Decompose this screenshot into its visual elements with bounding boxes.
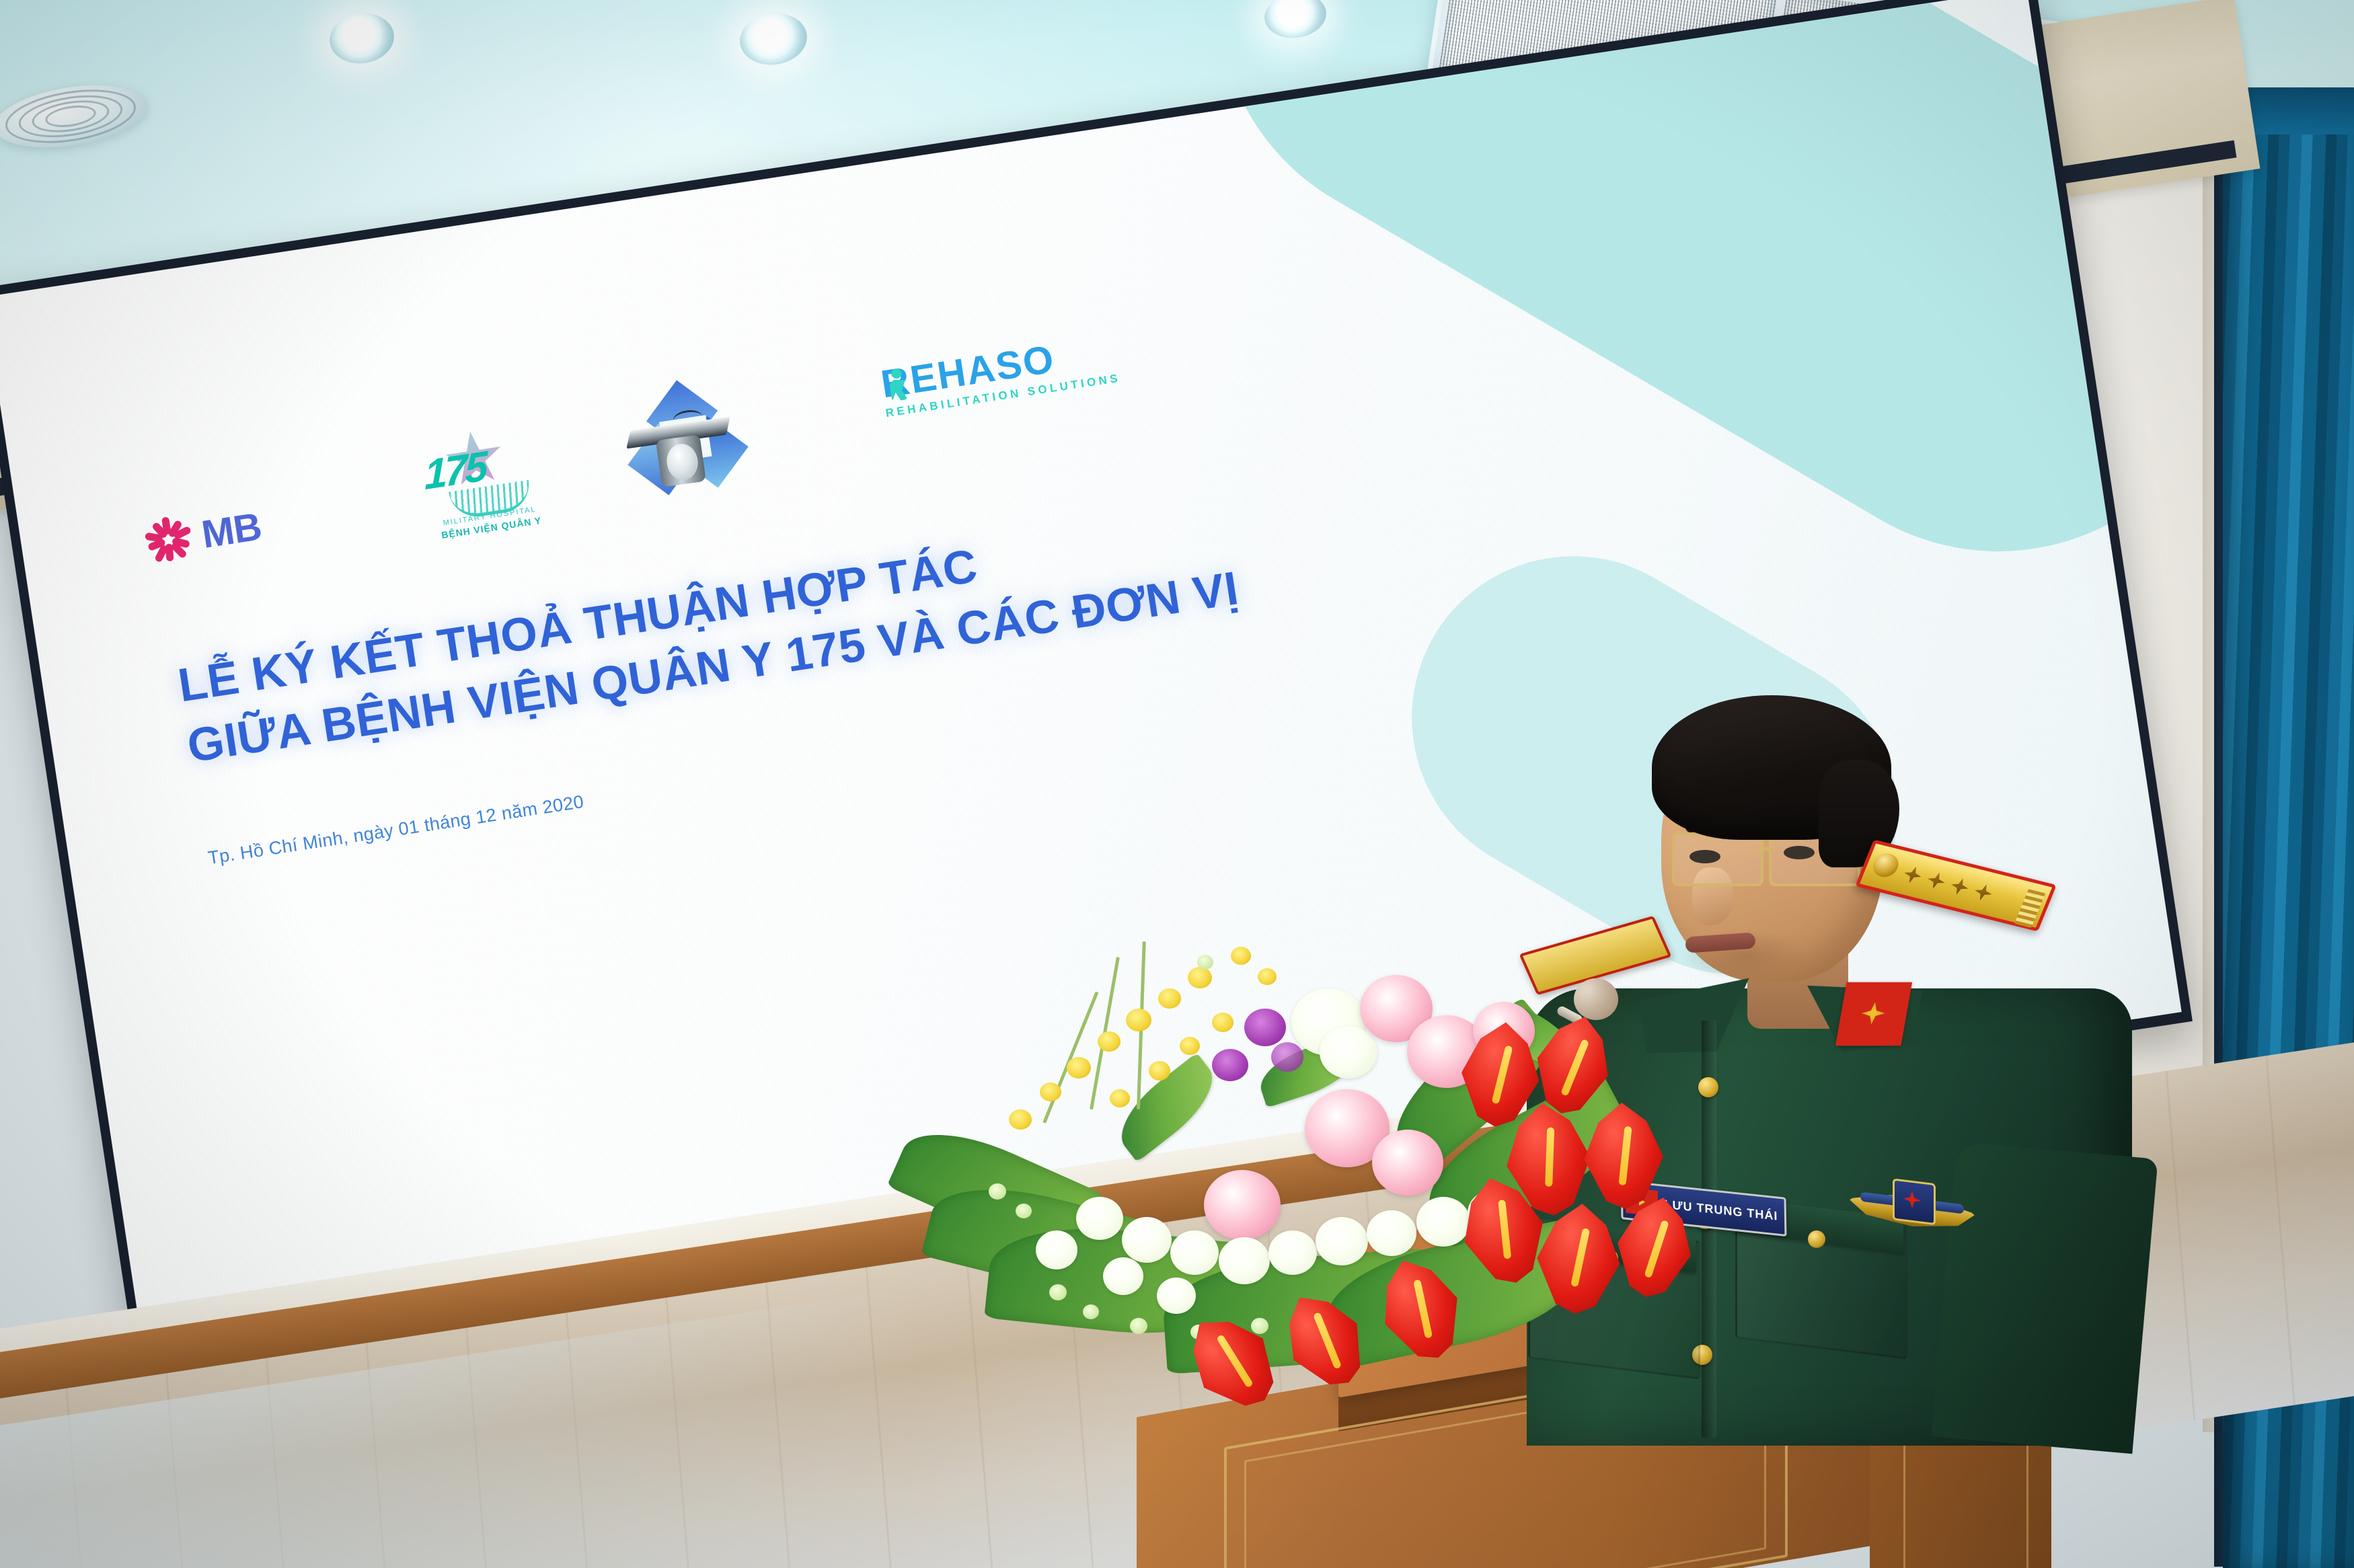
pink-rose: [1204, 1170, 1281, 1240]
pink-rose: [1372, 1130, 1443, 1195]
flower-arrangement: [908, 881, 1675, 1365]
white-dendrobium: [1268, 1230, 1317, 1275]
purple-orchid: [1244, 1009, 1286, 1046]
oncidium-flower: [1188, 967, 1212, 988]
white-dendrobium: [1076, 1197, 1123, 1240]
white-dendrobium: [1036, 1230, 1077, 1269]
flower-bud: [1197, 955, 1213, 970]
flower-bud: [1049, 1284, 1067, 1300]
uniform-button: [1698, 1077, 1718, 1097]
purple-orchid: [1212, 1049, 1248, 1081]
oncidium-flower: [1158, 988, 1181, 1009]
oncidium-flower: [1098, 1031, 1121, 1052]
rank-star-icon: [1971, 882, 1995, 903]
oncidium-flower: [1231, 947, 1251, 965]
mb-logo-text: MB: [199, 507, 264, 555]
flower-bud: [1130, 1318, 1147, 1334]
white-dendrobium: [1367, 1210, 1416, 1256]
flower-bud: [989, 1183, 1006, 1200]
oncidium-flower: [1009, 1109, 1032, 1130]
hair: [1652, 695, 1891, 840]
white-dendrobium: [1157, 1278, 1196, 1314]
white-dendrobium: [1316, 1217, 1368, 1265]
oncidium-flower: [1040, 1083, 1061, 1101]
white-dendrobium: [1122, 1217, 1172, 1263]
white-dendrobium: [1103, 1257, 1143, 1295]
mb-bank-logo: MB: [140, 502, 264, 569]
rank-star-icon: [1924, 870, 1948, 891]
pocket-button: [1808, 1230, 1825, 1248]
shoulder-board-rank: [1855, 839, 2057, 931]
oncidium-flower: [1149, 1061, 1170, 1081]
white-orchid: [1320, 1026, 1377, 1079]
ceiling-projector-icon: [627, 417, 738, 511]
hospital-175-mark-icon: 175: [416, 420, 548, 518]
rank-star-icon: [1948, 876, 1971, 897]
oncidium-flower: [1258, 968, 1277, 985]
white-dendrobium: [1170, 1230, 1219, 1275]
rank-star-icon: [1901, 865, 1924, 886]
white-dendrobium: [1416, 1197, 1470, 1247]
white-dendrobium: [1219, 1237, 1270, 1284]
oncidium-flower: [1212, 1013, 1233, 1032]
oncidium-flower: [1126, 1009, 1151, 1031]
oncidium-flower: [1110, 1089, 1130, 1107]
purple-orchid: [1271, 1042, 1303, 1072]
event-photo-scene: MB 175 MILITARY HOSPITAL BỆNH VIỆN QUÂN …: [0, 0, 2354, 1568]
mb-star-icon: [140, 512, 196, 569]
military-hospital-175-logo: 175 MILITARY HOSPITAL BỆNH VIỆN QUÂN Y: [400, 415, 570, 554]
flower-bud: [1251, 1318, 1268, 1334]
flower-bud: [1016, 1204, 1032, 1218]
collar-rank-tab: [1835, 982, 1912, 1046]
flower-bud: [1083, 1304, 1099, 1319]
oncidium-flower: [1067, 1057, 1091, 1079]
oncidium-flower: [1180, 1037, 1200, 1055]
